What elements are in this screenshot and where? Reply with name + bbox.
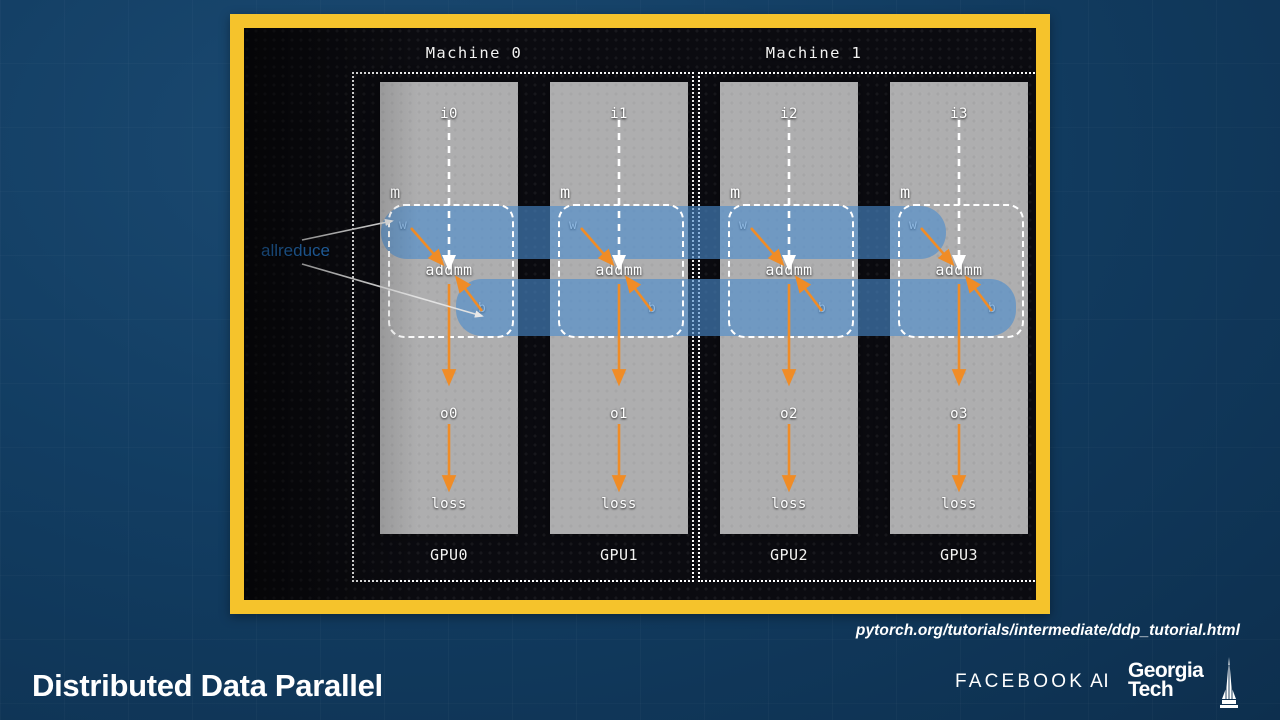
gpu-panel-2 <box>720 82 858 534</box>
facebook-wordmark: FACEBOOK <box>955 671 1085 692</box>
gpu-panel-0 <box>380 82 518 534</box>
gpu3-module-label: m <box>900 183 910 203</box>
gpu2-name-label: GPU2 <box>720 546 858 564</box>
machine-title-1: Machine 1 <box>684 44 944 62</box>
gpu1-loss-label: loss <box>550 496 688 512</box>
gpu0-module-label: m <box>390 183 400 203</box>
gpu1-module-label: m <box>560 183 570 203</box>
gpu2-input-label: i2 <box>720 106 858 122</box>
gpu1-output-label: o1 <box>550 406 688 422</box>
figure-frame: Machine 0 Machine 1 i0 m w addmm b o0 lo… <box>230 14 1050 614</box>
gpu-panel-3 <box>890 82 1028 534</box>
gpu0-op-label: addmm <box>380 261 518 279</box>
gpu0-bias-label: b <box>478 301 486 316</box>
gpu3-input-label: i3 <box>890 106 1028 122</box>
georgia-tech-tower-icon <box>1212 657 1246 709</box>
georgia-tech-logo: Georgia Tech <box>1128 661 1203 700</box>
tech-wordmark: Tech <box>1128 680 1203 699</box>
gpu3-bias-label: b <box>988 301 996 316</box>
machine-title-0: Machine 0 <box>344 44 604 62</box>
gpu0-loss-label: loss <box>380 496 518 512</box>
gpu3-loss-label: loss <box>890 496 1028 512</box>
gpu0-input-label: i0 <box>380 106 518 122</box>
gpu0-name-label: GPU0 <box>380 546 518 564</box>
gpu2-loss-label: loss <box>720 496 858 512</box>
figure-canvas: Machine 0 Machine 1 i0 m w addmm b o0 lo… <box>244 28 1036 600</box>
source-url: pytorch.org/tutorials/intermediate/ddp_t… <box>856 622 1240 640</box>
gpu3-name-label: GPU3 <box>890 546 1028 564</box>
slide-title: Distributed Data Parallel <box>32 668 383 704</box>
facebook-ai-logo: FACEBOOKAI <box>955 671 1109 693</box>
gpu1-input-label: i1 <box>550 106 688 122</box>
gpu-panel-1 <box>550 82 688 534</box>
gpu2-bias-label: b <box>818 301 826 316</box>
facebook-ai-suffix: AI <box>1090 671 1109 692</box>
gpu1-weight-label: w <box>569 218 577 233</box>
gpu2-module-label: m <box>730 183 740 203</box>
gpu0-output-label: o0 <box>380 406 518 422</box>
gpu2-weight-label: w <box>739 218 747 233</box>
gpu2-op-label: addmm <box>720 261 858 279</box>
gpu1-op-label: addmm <box>550 261 688 279</box>
gpu0-weight-label: w <box>399 218 407 233</box>
gpu3-op-label: addmm <box>890 261 1028 279</box>
gpu3-weight-label: w <box>909 218 917 233</box>
allreduce-label: allreduce <box>261 241 330 261</box>
gpu2-output-label: o2 <box>720 406 858 422</box>
gpu1-bias-label: b <box>648 301 656 316</box>
gpu3-output-label: o3 <box>890 406 1028 422</box>
gpu1-name-label: GPU1 <box>550 546 688 564</box>
